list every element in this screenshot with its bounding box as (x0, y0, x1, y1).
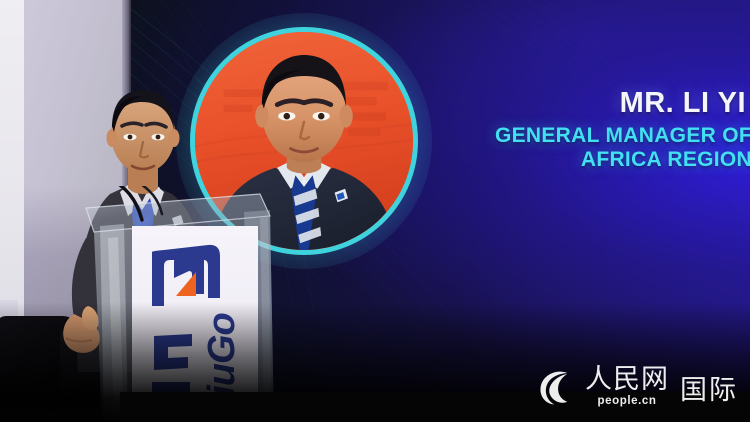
watermark: 人民网 people.cn 国际 (534, 366, 738, 408)
watermark-domain: people.cn (597, 396, 656, 408)
watermark-section: 国际 (680, 368, 738, 407)
podium: LiuGo (84, 186, 274, 422)
speaker-role: GENERAL MANAGER OF AFRICA REGION (430, 124, 750, 172)
speaker-role-line-1: GENERAL MANAGER OF (495, 124, 750, 147)
people-cn-globe-icon (534, 366, 576, 408)
watermark-cn-block: 人民网 people.cn (585, 366, 669, 408)
speaker-name: MR. LI YI (430, 88, 750, 118)
watermark-cn-name: 人民网 (585, 366, 669, 393)
speaker-role-line-2: AFRICA REGION (430, 148, 750, 172)
svg-text:LiuGo: LiuGo (201, 313, 243, 418)
caption-block: MR. LI YI GENERAL MANAGER OF AFRICA REGI… (430, 88, 750, 172)
stage-photo-scene: LiuGo MR. LI YI GENERAL MANAGER OF AFRIC… (0, 0, 750, 422)
